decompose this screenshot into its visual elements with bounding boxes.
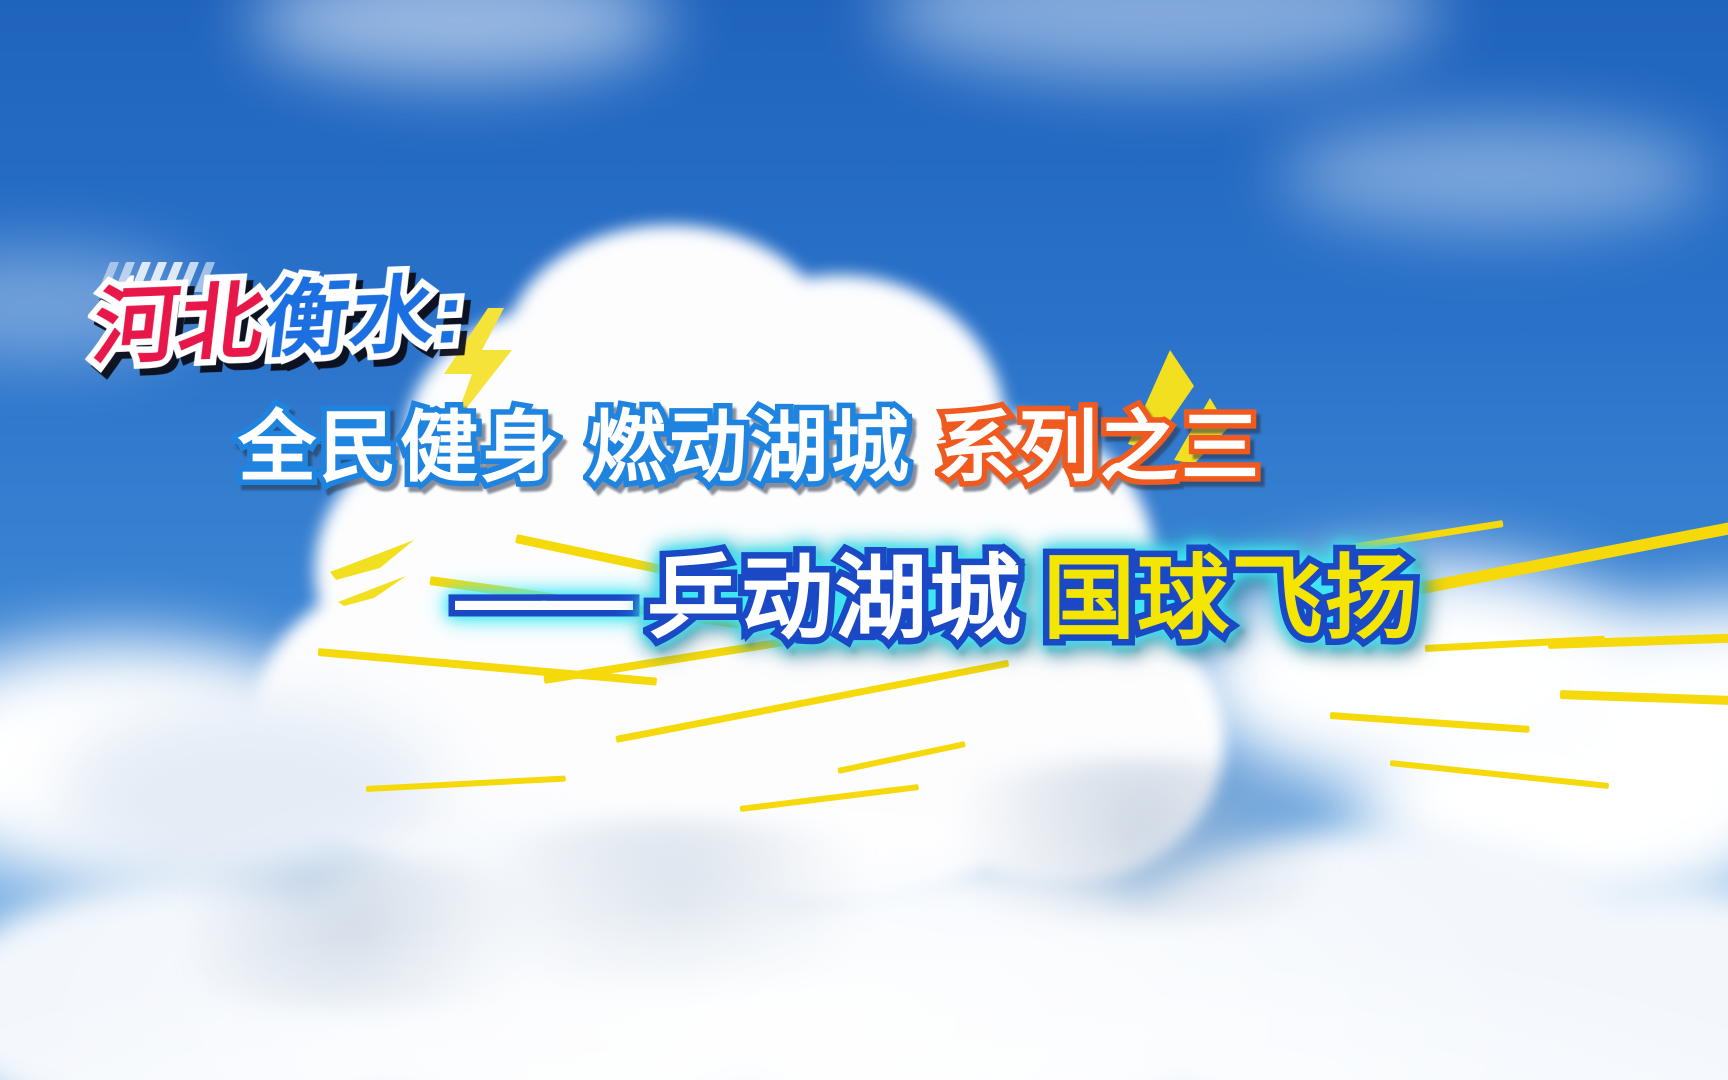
title-line3-segment-national-ball: 国球飞扬: [1043, 553, 1419, 645]
video-title-card: 河北 衡水: 全民健身 燃动湖城 系列之三 —— 乒动湖城 国球飞扬: [0, 0, 1728, 1080]
title-line2-segment-fitness: 全民健身: [238, 408, 562, 486]
title-line2-segment-series: 系列之三: [938, 408, 1262, 486]
title-block: 河北 衡水: 全民健身 燃动湖城 系列之三 —— 乒动湖城 国球飞扬: [0, 0, 1728, 1080]
title-line3-segment-dash: ——: [455, 553, 627, 645]
title-line-1: 河北 衡水:: [89, 271, 470, 369]
title-line-2: 全民健身 燃动湖城 系列之三: [238, 408, 1262, 486]
title-line1-segment-city: 河北: [89, 279, 270, 369]
title-line1-segment-place: 衡水:: [260, 271, 470, 363]
title-line2-segment-lakecity: 燃动湖城: [588, 408, 912, 486]
title-line3-segment-pingpong: 乒动湖城: [647, 553, 1023, 645]
title-line-3: —— 乒动湖城 国球飞扬: [455, 553, 1419, 645]
